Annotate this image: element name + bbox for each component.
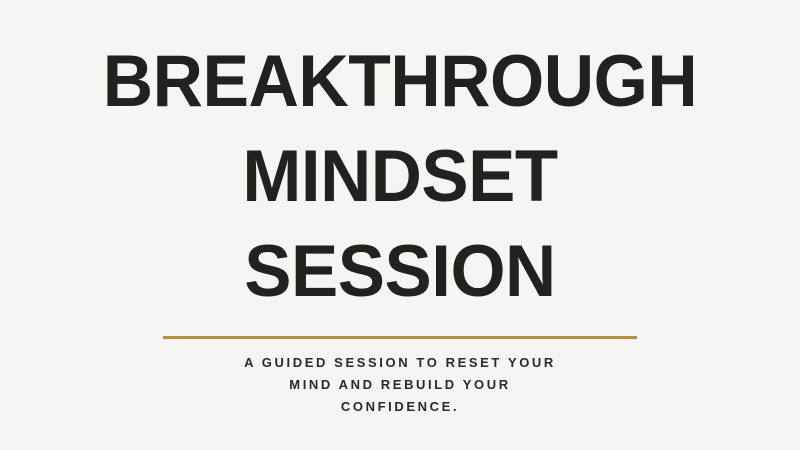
divider-container bbox=[0, 336, 800, 339]
title-line-1: BREAKTHROUGH bbox=[18, 34, 782, 129]
subtitle: A GUIDED SESSION TO RESET YOUR MIND AND … bbox=[0, 352, 800, 418]
page-title: BREAKTHROUGH MINDSET SESSION bbox=[0, 34, 800, 319]
title-slide: BREAKTHROUGH MINDSET SESSION A GUIDED SE… bbox=[0, 0, 800, 450]
title-line-2: MINDSET bbox=[12, 129, 788, 224]
gold-divider bbox=[163, 336, 637, 339]
subtitle-line-2: MIND AND REBUILD YOUR bbox=[0, 374, 800, 396]
subtitle-line-1: A GUIDED SESSION TO RESET YOUR bbox=[0, 352, 800, 374]
subtitle-line-3: CONFIDENCE. bbox=[0, 396, 800, 418]
title-line-3: SESSION bbox=[12, 224, 788, 319]
